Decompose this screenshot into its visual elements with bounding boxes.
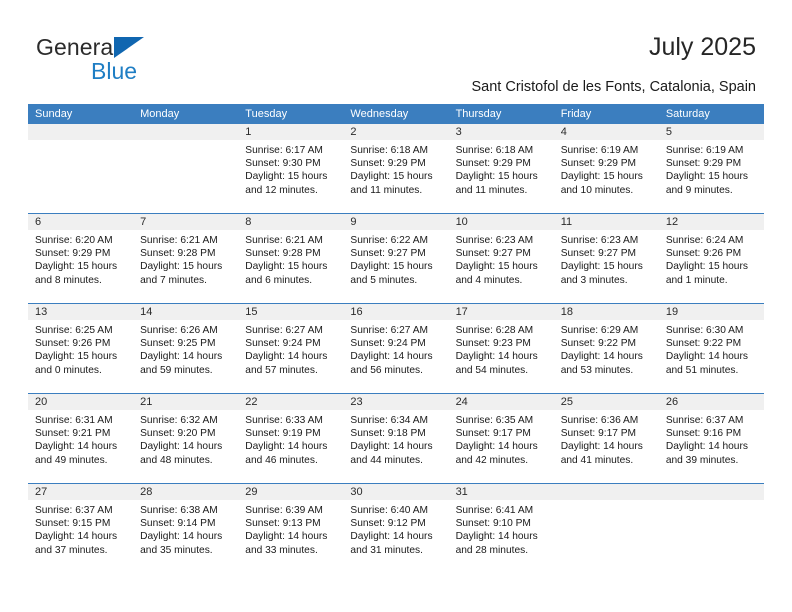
sunrise-text: Sunrise: 6:23 AM	[456, 234, 548, 247]
daylight-text: Daylight: 14 hours and 51 minutes.	[666, 350, 758, 376]
day-cell[interactable]: Sunrise: 6:29 AM Sunset: 9:22 PM Dayligh…	[554, 320, 659, 393]
day-number[interactable]: 3	[449, 124, 554, 140]
day-cell[interactable]: Sunrise: 6:23 AM Sunset: 9:27 PM Dayligh…	[554, 230, 659, 303]
sunset-text: Sunset: 9:10 PM	[456, 517, 548, 530]
day-number[interactable]: 2	[343, 124, 448, 140]
sunrise-text: Sunrise: 6:37 AM	[666, 414, 758, 427]
day-number[interactable]: 8	[238, 214, 343, 230]
day-number[interactable]: 26	[659, 394, 764, 410]
day-cell[interactable]: Sunrise: 6:37 AM Sunset: 9:16 PM Dayligh…	[659, 410, 764, 483]
sunrise-text: Sunrise: 6:41 AM	[456, 504, 548, 517]
daylight-text: Daylight: 14 hours and 46 minutes.	[245, 440, 337, 466]
sunrise-text: Sunrise: 6:27 AM	[350, 324, 442, 337]
weekday-header-thursday: Thursday	[449, 104, 554, 124]
sunset-text: Sunset: 9:19 PM	[245, 427, 337, 440]
daylight-text: Daylight: 14 hours and 28 minutes.	[456, 530, 548, 556]
sunset-text: Sunset: 9:21 PM	[35, 427, 127, 440]
week-row: 20 21 22 23 24 25 26 Sunrise: 6:31 AM Su…	[28, 393, 764, 483]
day-cell[interactable]: Sunrise: 6:23 AM Sunset: 9:27 PM Dayligh…	[449, 230, 554, 303]
logo-text-blue: Blue	[91, 58, 137, 85]
sunset-text: Sunset: 9:28 PM	[245, 247, 337, 260]
sunrise-text: Sunrise: 6:20 AM	[35, 234, 127, 247]
sunset-text: Sunset: 9:14 PM	[140, 517, 232, 530]
sunset-text: Sunset: 9:24 PM	[350, 337, 442, 350]
sunrise-text: Sunrise: 6:18 AM	[456, 144, 548, 157]
day-cell[interactable]: Sunrise: 6:21 AM Sunset: 9:28 PM Dayligh…	[133, 230, 238, 303]
day-number[interactable]: 27	[28, 484, 133, 500]
day-cell[interactable]: Sunrise: 6:17 AM Sunset: 9:30 PM Dayligh…	[238, 140, 343, 213]
day-cell[interactable]: Sunrise: 6:41 AM Sunset: 9:10 PM Dayligh…	[449, 500, 554, 573]
day-number[interactable]: 15	[238, 304, 343, 320]
calendar-page: General Blue July 2025 Sant Cristofol de…	[0, 0, 792, 612]
daylight-text: Daylight: 14 hours and 41 minutes.	[561, 440, 653, 466]
week-detail-band: Sunrise: 6:37 AM Sunset: 9:15 PM Dayligh…	[28, 500, 764, 573]
sunrise-text: Sunrise: 6:18 AM	[350, 144, 442, 157]
sunrise-text: Sunrise: 6:21 AM	[245, 234, 337, 247]
day-cell[interactable]: Sunrise: 6:26 AM Sunset: 9:25 PM Dayligh…	[133, 320, 238, 393]
day-number[interactable]: 10	[449, 214, 554, 230]
daylight-text: Daylight: 14 hours and 31 minutes.	[350, 530, 442, 556]
sunset-text: Sunset: 9:22 PM	[561, 337, 653, 350]
sunset-text: Sunset: 9:20 PM	[140, 427, 232, 440]
daylight-text: Daylight: 15 hours and 6 minutes.	[245, 260, 337, 286]
week-daynumber-band: 20 21 22 23 24 25 26	[28, 394, 764, 410]
day-number[interactable]: 16	[343, 304, 448, 320]
daylight-text: Daylight: 14 hours and 37 minutes.	[35, 530, 127, 556]
week-row: 1 2 3 4 5 Sunrise: 6:17 AM Sunset: 9:30 …	[28, 124, 764, 213]
sunset-text: Sunset: 9:13 PM	[245, 517, 337, 530]
daylight-text: Daylight: 14 hours and 53 minutes.	[561, 350, 653, 376]
daylight-text: Daylight: 14 hours and 42 minutes.	[456, 440, 548, 466]
daylight-text: Daylight: 15 hours and 0 minutes.	[35, 350, 127, 376]
day-number[interactable]	[133, 124, 238, 140]
day-cell-empty	[133, 140, 238, 213]
location-subtitle: Sant Cristofol de les Fonts, Catalonia, …	[471, 79, 756, 95]
daylight-text: Daylight: 15 hours and 12 minutes.	[245, 170, 337, 196]
day-number[interactable]: 23	[343, 394, 448, 410]
day-cell[interactable]: Sunrise: 6:27 AM Sunset: 9:24 PM Dayligh…	[238, 320, 343, 393]
day-number[interactable]: 12	[659, 214, 764, 230]
day-number[interactable]: 24	[449, 394, 554, 410]
week-detail-band: Sunrise: 6:20 AM Sunset: 9:29 PM Dayligh…	[28, 230, 764, 303]
day-number[interactable]: 19	[659, 304, 764, 320]
sunrise-text: Sunrise: 6:17 AM	[245, 144, 337, 157]
daylight-text: Daylight: 14 hours and 33 minutes.	[245, 530, 337, 556]
sunset-text: Sunset: 9:24 PM	[245, 337, 337, 350]
sunset-text: Sunset: 9:12 PM	[350, 517, 442, 530]
day-cell[interactable]: Sunrise: 6:31 AM Sunset: 9:21 PM Dayligh…	[28, 410, 133, 483]
page-title: July 2025	[649, 33, 756, 62]
day-number[interactable]	[659, 484, 764, 500]
sunset-text: Sunset: 9:26 PM	[35, 337, 127, 350]
day-cell-empty	[659, 500, 764, 573]
sunset-text: Sunset: 9:26 PM	[666, 247, 758, 260]
day-number[interactable]: 28	[133, 484, 238, 500]
sunset-text: Sunset: 9:23 PM	[456, 337, 548, 350]
sunset-text: Sunset: 9:27 PM	[456, 247, 548, 260]
sunset-text: Sunset: 9:25 PM	[140, 337, 232, 350]
daylight-text: Daylight: 15 hours and 1 minute.	[666, 260, 758, 286]
day-cell[interactable]: Sunrise: 6:19 AM Sunset: 9:29 PM Dayligh…	[659, 140, 764, 213]
day-number[interactable]: 25	[554, 394, 659, 410]
sunset-text: Sunset: 9:16 PM	[666, 427, 758, 440]
daylight-text: Daylight: 15 hours and 7 minutes.	[140, 260, 232, 286]
sunset-text: Sunset: 9:28 PM	[140, 247, 232, 260]
day-number[interactable]: 7	[133, 214, 238, 230]
general-blue-logo[interactable]: General Blue	[36, 34, 216, 86]
sunrise-text: Sunrise: 6:37 AM	[35, 504, 127, 517]
sunset-text: Sunset: 9:29 PM	[350, 157, 442, 170]
daylight-text: Daylight: 14 hours and 35 minutes.	[140, 530, 232, 556]
sunrise-text: Sunrise: 6:38 AM	[140, 504, 232, 517]
daylight-text: Daylight: 14 hours and 57 minutes.	[245, 350, 337, 376]
sunrise-text: Sunrise: 6:34 AM	[350, 414, 442, 427]
daylight-text: Daylight: 14 hours and 54 minutes.	[456, 350, 548, 376]
sunset-text: Sunset: 9:15 PM	[35, 517, 127, 530]
week-daynumber-band: 1 2 3 4 5	[28, 124, 764, 140]
sunrise-text: Sunrise: 6:36 AM	[561, 414, 653, 427]
day-cell[interactable]: Sunrise: 6:30 AM Sunset: 9:22 PM Dayligh…	[659, 320, 764, 393]
day-number[interactable]: 11	[554, 214, 659, 230]
sunrise-text: Sunrise: 6:26 AM	[140, 324, 232, 337]
sunrise-text: Sunrise: 6:29 AM	[561, 324, 653, 337]
sunrise-text: Sunrise: 6:35 AM	[456, 414, 548, 427]
week-daynumber-band: 6 7 8 9 10 11 12	[28, 214, 764, 230]
day-cell-empty	[28, 140, 133, 213]
day-cell[interactable]: Sunrise: 6:38 AM Sunset: 9:14 PM Dayligh…	[133, 500, 238, 573]
daylight-text: Daylight: 15 hours and 10 minutes.	[561, 170, 653, 196]
daylight-text: Daylight: 15 hours and 5 minutes.	[350, 260, 442, 286]
sunset-text: Sunset: 9:29 PM	[666, 157, 758, 170]
sunset-text: Sunset: 9:27 PM	[350, 247, 442, 260]
day-number[interactable]	[554, 484, 659, 500]
sunrise-text: Sunrise: 6:31 AM	[35, 414, 127, 427]
sunset-text: Sunset: 9:22 PM	[666, 337, 758, 350]
day-number[interactable]: 5	[659, 124, 764, 140]
sunset-text: Sunset: 9:17 PM	[456, 427, 548, 440]
day-number[interactable]: 13	[28, 304, 133, 320]
day-cell[interactable]: Sunrise: 6:27 AM Sunset: 9:24 PM Dayligh…	[343, 320, 448, 393]
sunrise-text: Sunrise: 6:32 AM	[140, 414, 232, 427]
sunrise-text: Sunrise: 6:19 AM	[666, 144, 758, 157]
sunrise-text: Sunrise: 6:21 AM	[140, 234, 232, 247]
day-cell[interactable]: Sunrise: 6:18 AM Sunset: 9:29 PM Dayligh…	[343, 140, 448, 213]
weekday-header-saturday: Saturday	[659, 104, 764, 124]
daylight-text: Daylight: 15 hours and 11 minutes.	[456, 170, 548, 196]
daylight-text: Daylight: 14 hours and 59 minutes.	[140, 350, 232, 376]
sunset-text: Sunset: 9:27 PM	[561, 247, 653, 260]
sunrise-text: Sunrise: 6:30 AM	[666, 324, 758, 337]
logo-text-general: General	[36, 34, 119, 61]
sunrise-text: Sunrise: 6:27 AM	[245, 324, 337, 337]
day-number[interactable]: 6	[28, 214, 133, 230]
day-number[interactable]: 20	[28, 394, 133, 410]
sunset-text: Sunset: 9:29 PM	[456, 157, 548, 170]
week-row: 6 7 8 9 10 11 12 Sunrise: 6:20 AM Sunset…	[28, 213, 764, 303]
day-number[interactable]: 1	[238, 124, 343, 140]
calendar-grid: Sunday Monday Tuesday Wednesday Thursday…	[28, 104, 764, 573]
week-row: 13 14 15 16 17 18 19 Sunrise: 6:25 AM Su…	[28, 303, 764, 393]
day-number[interactable]: 17	[449, 304, 554, 320]
logo-triangle-icon	[114, 37, 144, 58]
sunrise-text: Sunrise: 6:40 AM	[350, 504, 442, 517]
daylight-text: Daylight: 15 hours and 4 minutes.	[456, 260, 548, 286]
day-number[interactable]: 14	[133, 304, 238, 320]
day-number[interactable]: 9	[343, 214, 448, 230]
sunset-text: Sunset: 9:29 PM	[35, 247, 127, 260]
day-number[interactable]: 29	[238, 484, 343, 500]
daylight-text: Daylight: 15 hours and 11 minutes.	[350, 170, 442, 196]
daylight-text: Daylight: 15 hours and 3 minutes.	[561, 260, 653, 286]
day-cell[interactable]: Sunrise: 6:18 AM Sunset: 9:29 PM Dayligh…	[449, 140, 554, 213]
week-detail-band: Sunrise: 6:17 AM Sunset: 9:30 PM Dayligh…	[28, 140, 764, 213]
sunset-text: Sunset: 9:18 PM	[350, 427, 442, 440]
day-number[interactable]: 31	[449, 484, 554, 500]
day-cell[interactable]: Sunrise: 6:25 AM Sunset: 9:26 PM Dayligh…	[28, 320, 133, 393]
week-detail-band: Sunrise: 6:31 AM Sunset: 9:21 PM Dayligh…	[28, 410, 764, 483]
sunrise-text: Sunrise: 6:25 AM	[35, 324, 127, 337]
sunrise-text: Sunrise: 6:22 AM	[350, 234, 442, 247]
day-cell[interactable]: Sunrise: 6:39 AM Sunset: 9:13 PM Dayligh…	[238, 500, 343, 573]
daylight-text: Daylight: 14 hours and 48 minutes.	[140, 440, 232, 466]
week-row: 27 28 29 30 31 Sunrise: 6:37 AM Sunset: …	[28, 483, 764, 573]
weekday-header-row: Sunday Monday Tuesday Wednesday Thursday…	[28, 104, 764, 124]
sunset-text: Sunset: 9:29 PM	[561, 157, 653, 170]
day-number[interactable]	[28, 124, 133, 140]
day-number[interactable]: 22	[238, 394, 343, 410]
weekday-header-wednesday: Wednesday	[343, 104, 448, 124]
weekday-header-tuesday: Tuesday	[238, 104, 343, 124]
day-cell[interactable]: Sunrise: 6:37 AM Sunset: 9:15 PM Dayligh…	[28, 500, 133, 573]
sunrise-text: Sunrise: 6:23 AM	[561, 234, 653, 247]
sunset-text: Sunset: 9:17 PM	[561, 427, 653, 440]
sunrise-text: Sunrise: 6:19 AM	[561, 144, 653, 157]
day-cell[interactable]: Sunrise: 6:20 AM Sunset: 9:29 PM Dayligh…	[28, 230, 133, 303]
daylight-text: Daylight: 14 hours and 56 minutes.	[350, 350, 442, 376]
weekday-header-friday: Friday	[554, 104, 659, 124]
day-number[interactable]: 30	[343, 484, 448, 500]
week-daynumber-band: 13 14 15 16 17 18 19	[28, 304, 764, 320]
sunrise-text: Sunrise: 6:24 AM	[666, 234, 758, 247]
sunrise-text: Sunrise: 6:28 AM	[456, 324, 548, 337]
day-cell[interactable]: Sunrise: 6:21 AM Sunset: 9:28 PM Dayligh…	[238, 230, 343, 303]
day-cell-empty	[554, 500, 659, 573]
weekday-header-monday: Monday	[133, 104, 238, 124]
week-detail-band: Sunrise: 6:25 AM Sunset: 9:26 PM Dayligh…	[28, 320, 764, 393]
daylight-text: Daylight: 14 hours and 44 minutes.	[350, 440, 442, 466]
week-daynumber-band: 27 28 29 30 31	[28, 484, 764, 500]
daylight-text: Daylight: 15 hours and 8 minutes.	[35, 260, 127, 286]
day-number[interactable]: 4	[554, 124, 659, 140]
day-cell[interactable]: Sunrise: 6:36 AM Sunset: 9:17 PM Dayligh…	[554, 410, 659, 483]
day-cell[interactable]: Sunrise: 6:28 AM Sunset: 9:23 PM Dayligh…	[449, 320, 554, 393]
day-number[interactable]: 18	[554, 304, 659, 320]
day-cell[interactable]: Sunrise: 6:35 AM Sunset: 9:17 PM Dayligh…	[449, 410, 554, 483]
sunrise-text: Sunrise: 6:33 AM	[245, 414, 337, 427]
day-number[interactable]: 21	[133, 394, 238, 410]
daylight-text: Daylight: 14 hours and 49 minutes.	[35, 440, 127, 466]
day-cell[interactable]: Sunrise: 6:32 AM Sunset: 9:20 PM Dayligh…	[133, 410, 238, 483]
weekday-header-sunday: Sunday	[28, 104, 133, 124]
sunset-text: Sunset: 9:30 PM	[245, 157, 337, 170]
daylight-text: Daylight: 15 hours and 9 minutes.	[666, 170, 758, 196]
day-cell[interactable]: Sunrise: 6:22 AM Sunset: 9:27 PM Dayligh…	[343, 230, 448, 303]
day-cell[interactable]: Sunrise: 6:34 AM Sunset: 9:18 PM Dayligh…	[343, 410, 448, 483]
day-cell[interactable]: Sunrise: 6:40 AM Sunset: 9:12 PM Dayligh…	[343, 500, 448, 573]
day-cell[interactable]: Sunrise: 6:33 AM Sunset: 9:19 PM Dayligh…	[238, 410, 343, 483]
sunrise-text: Sunrise: 6:39 AM	[245, 504, 337, 517]
day-cell[interactable]: Sunrise: 6:19 AM Sunset: 9:29 PM Dayligh…	[554, 140, 659, 213]
page-header: General Blue July 2025 Sant Cristofol de…	[0, 0, 792, 100]
day-cell[interactable]: Sunrise: 6:24 AM Sunset: 9:26 PM Dayligh…	[659, 230, 764, 303]
daylight-text: Daylight: 14 hours and 39 minutes.	[666, 440, 758, 466]
